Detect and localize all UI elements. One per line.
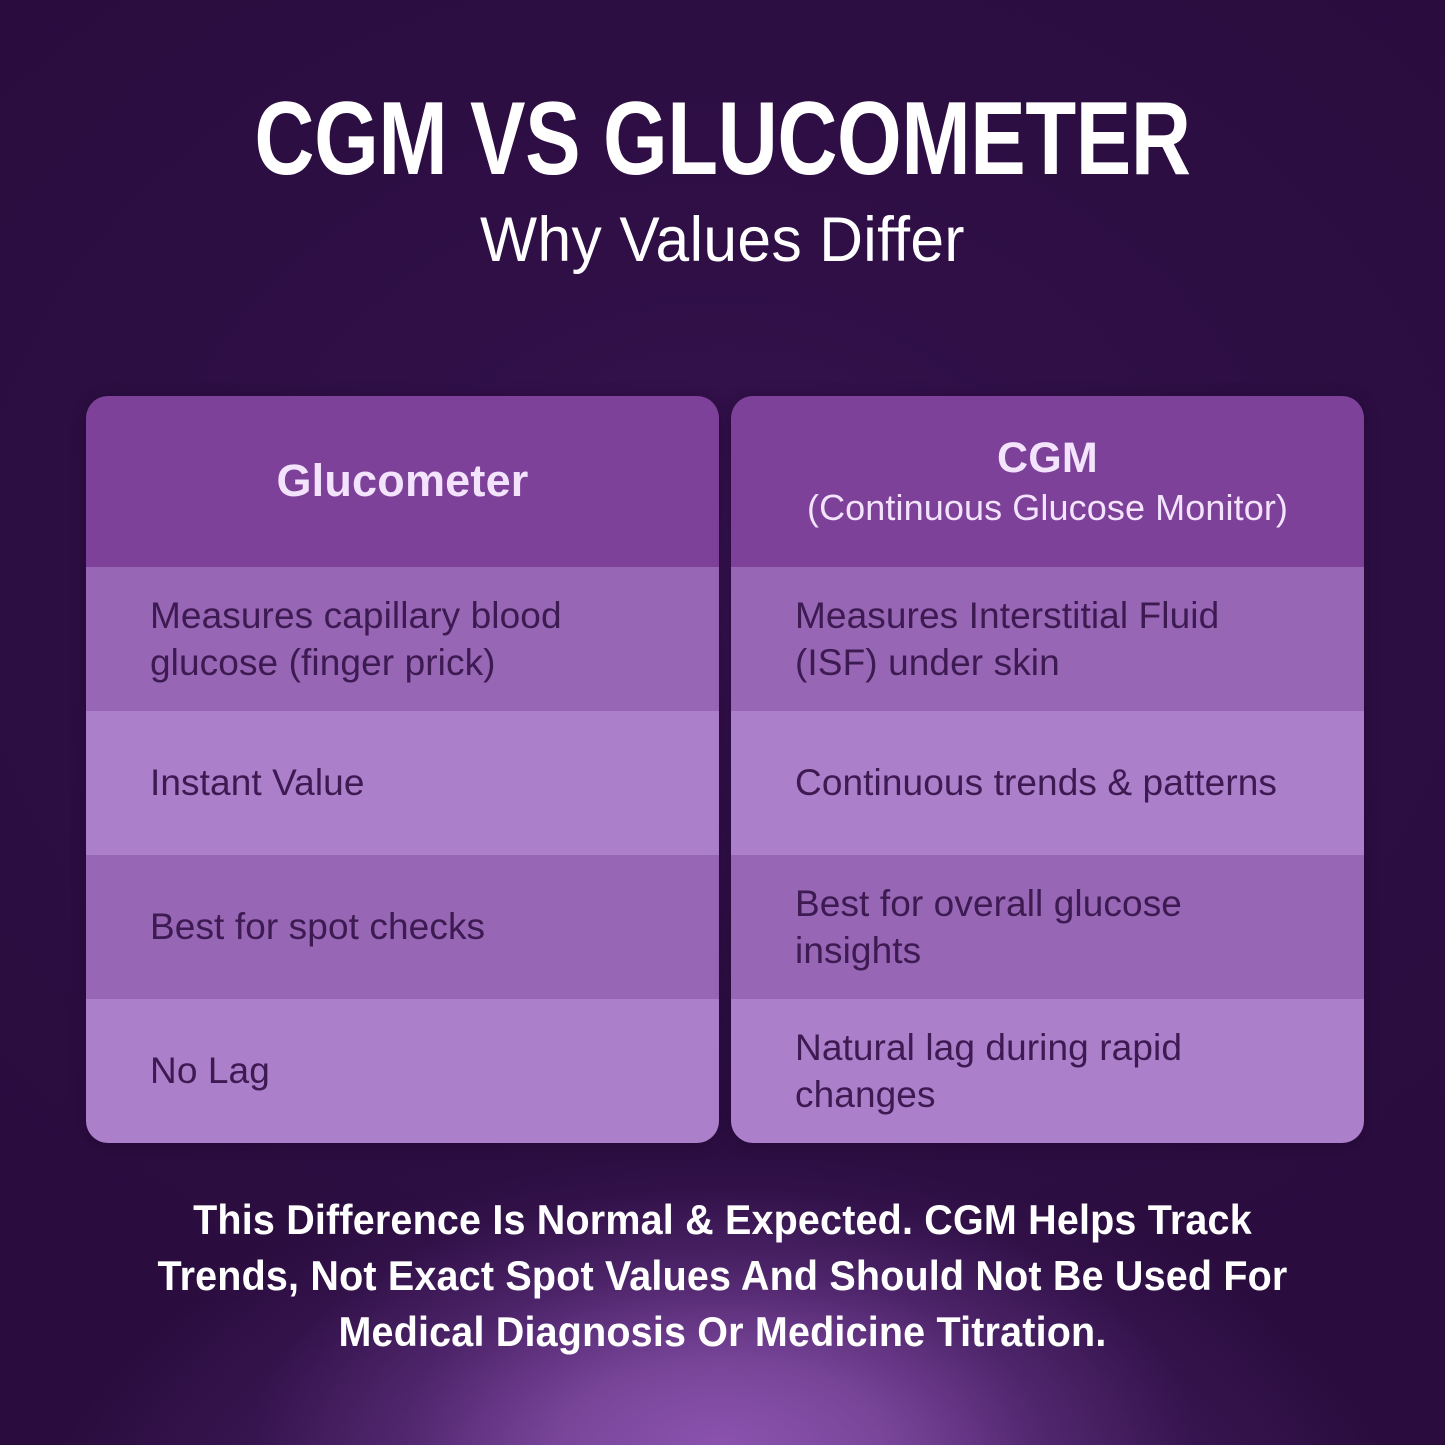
column-rows-cgm: Measures Interstitial Fluid (ISF) under …	[731, 567, 1364, 1143]
table-row: Best for spot checks	[86, 855, 719, 999]
footer-line-3: Medical Diagnosis Or Medicine Titration.	[43, 1304, 1401, 1360]
table-row: Best for overall glucose insights	[731, 855, 1364, 999]
footer-line-1: This Difference Is Normal & Expected. CG…	[43, 1192, 1401, 1248]
footer-line-2: Trends, Not Exact Spot Values And Should…	[43, 1248, 1401, 1304]
table-row: Natural lag during rapid changes	[731, 999, 1364, 1143]
page-title: CGM VS GLUCOMETER	[145, 86, 1301, 192]
column-header-cgm: CGM (Continuous Glucose Monitor)	[731, 396, 1364, 567]
table-row: No Lag	[86, 999, 719, 1143]
page-subtitle: Why Values Differ	[29, 206, 1416, 275]
column-header-glucometer: Glucometer	[86, 396, 719, 567]
comparison-column-cgm: CGM (Continuous Glucose Monitor) Measure…	[731, 396, 1364, 1143]
column-title-glucometer: Glucometer	[276, 456, 528, 506]
row-text: Best for spot checks	[150, 903, 485, 950]
footer-disclaimer: This Difference Is Normal & Expected. CG…	[0, 1192, 1445, 1360]
row-text: Natural lag during rapid changes	[795, 1024, 1295, 1119]
table-row: Measures Interstitial Fluid (ISF) under …	[731, 567, 1364, 711]
row-text: Measures capillary blood glucose (finger…	[150, 592, 650, 687]
comparison-table: Glucometer Measures capillary blood gluc…	[86, 396, 1364, 1143]
column-rows-glucometer: Measures capillary blood glucose (finger…	[86, 567, 719, 1143]
heading-block: CGM VS GLUCOMETER Why Values Differ	[0, 86, 1445, 275]
comparison-column-glucometer: Glucometer Measures capillary blood gluc…	[86, 396, 719, 1143]
table-row: Continuous trends & patterns	[731, 711, 1364, 855]
row-text: Best for overall glucose insights	[795, 880, 1295, 975]
row-text: Instant Value	[150, 759, 365, 806]
infographic-poster: CGM VS GLUCOMETER Why Values Differ Gluc…	[0, 0, 1445, 1445]
table-row: Measures capillary blood glucose (finger…	[86, 567, 719, 711]
row-text: Measures Interstitial Fluid (ISF) under …	[795, 592, 1295, 687]
table-row: Instant Value	[86, 711, 719, 855]
row-text: Continuous trends & patterns	[795, 759, 1277, 806]
column-subtitle-cgm: (Continuous Glucose Monitor)	[807, 486, 1288, 529]
column-title-cgm: CGM	[997, 434, 1098, 482]
row-text: No Lag	[150, 1047, 270, 1094]
